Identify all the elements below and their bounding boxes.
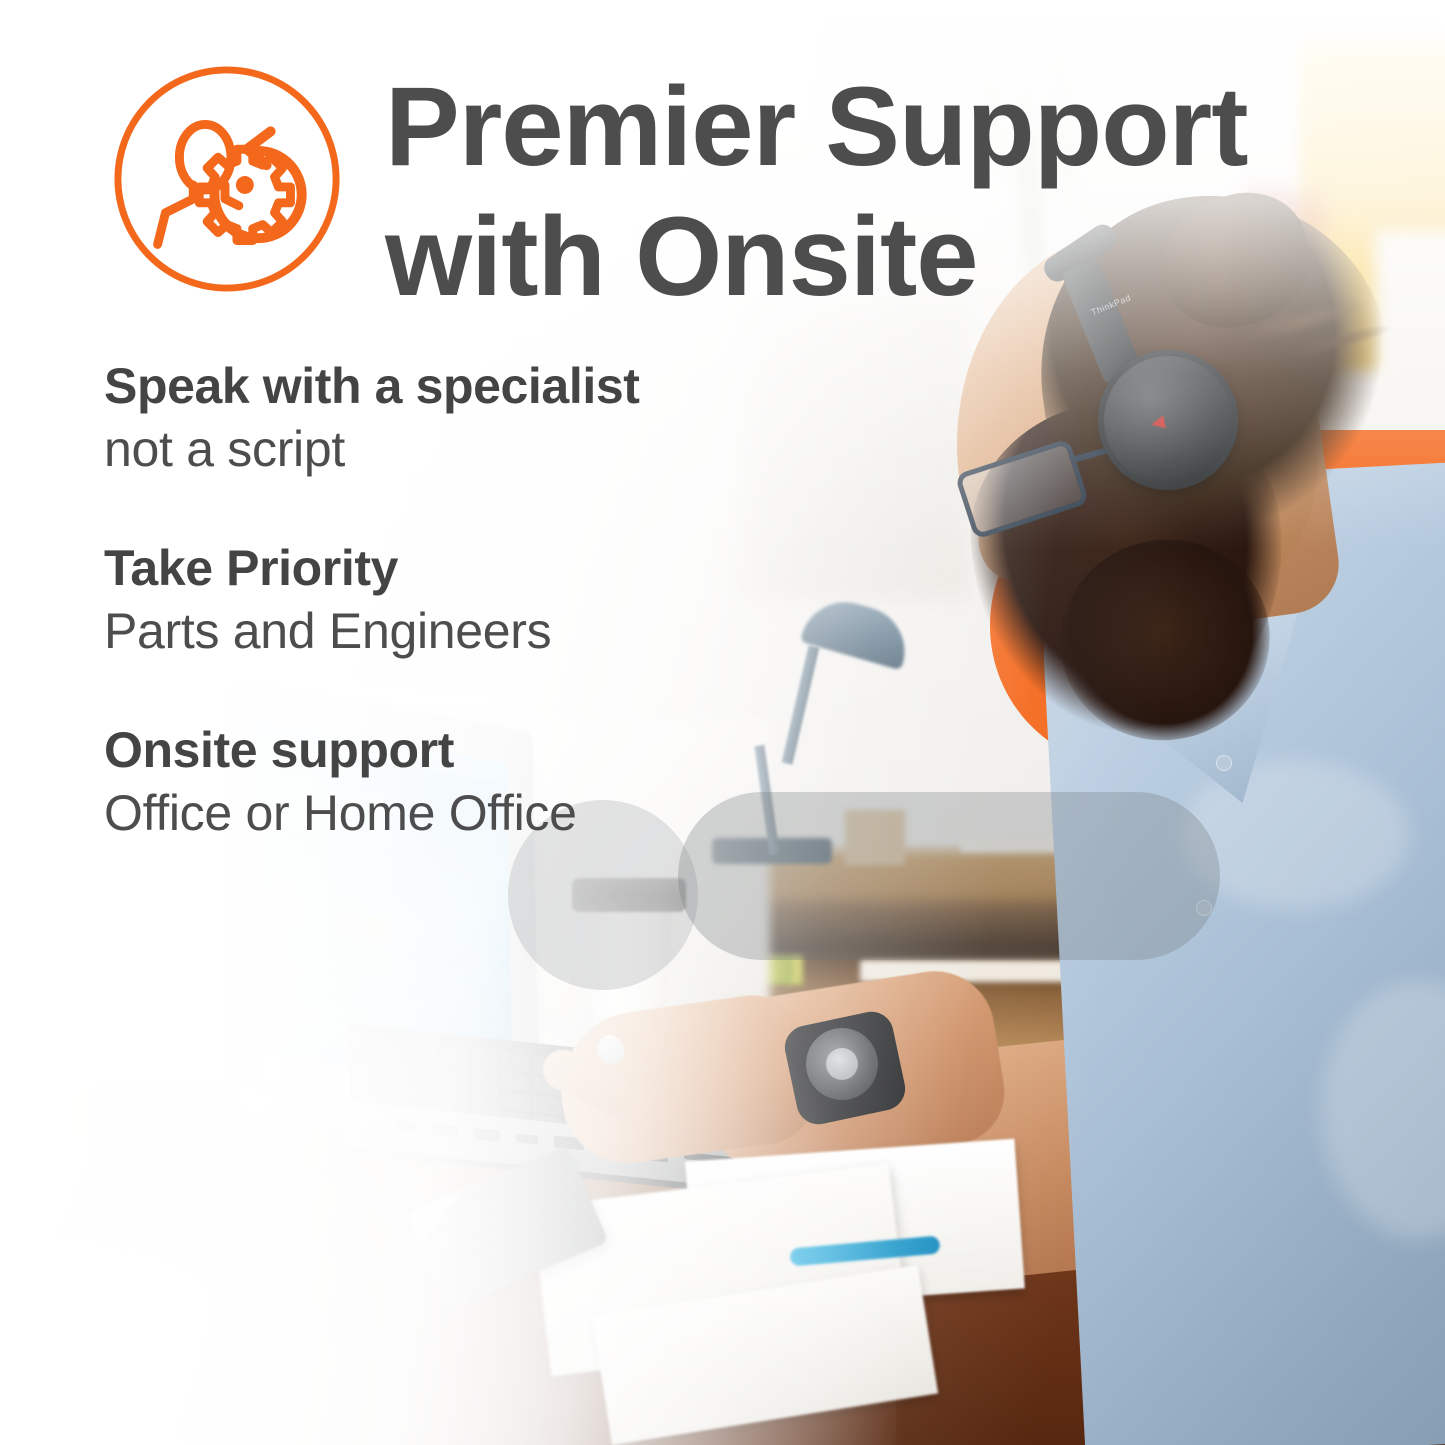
benefit-item-priority: Take Priority Parts and Engineers <box>104 540 804 662</box>
benefit-item-onsite: Onsite support Office or Home Office <box>104 722 804 844</box>
page-title: Premier Support with Onsite <box>385 62 1265 322</box>
benefit-heading: Onsite support <box>104 722 804 779</box>
title-line-2: with Onsite <box>385 192 1265 322</box>
benefit-subtext: Parts and Engineers <box>104 601 804 662</box>
benefit-heading: Speak with a specialist <box>104 358 804 415</box>
title-line-1: Premier Support <box>385 62 1265 192</box>
benefit-subtext: Office or Home Office <box>104 783 804 844</box>
benefit-item-specialist: Speak with a specialist not a script <box>104 358 804 480</box>
premier-support-badge <box>108 60 346 298</box>
content-layer: Premier Support with Onsite Speak with a… <box>0 0 1445 1445</box>
benefits-list: Speak with a specialist not a script Tak… <box>104 358 804 844</box>
benefit-heading: Take Priority <box>104 540 804 597</box>
marketing-banner: ThinkPad ◂ <box>0 0 1445 1445</box>
user-gear-refresh-icon <box>108 60 346 298</box>
benefit-subtext: not a script <box>104 419 804 480</box>
